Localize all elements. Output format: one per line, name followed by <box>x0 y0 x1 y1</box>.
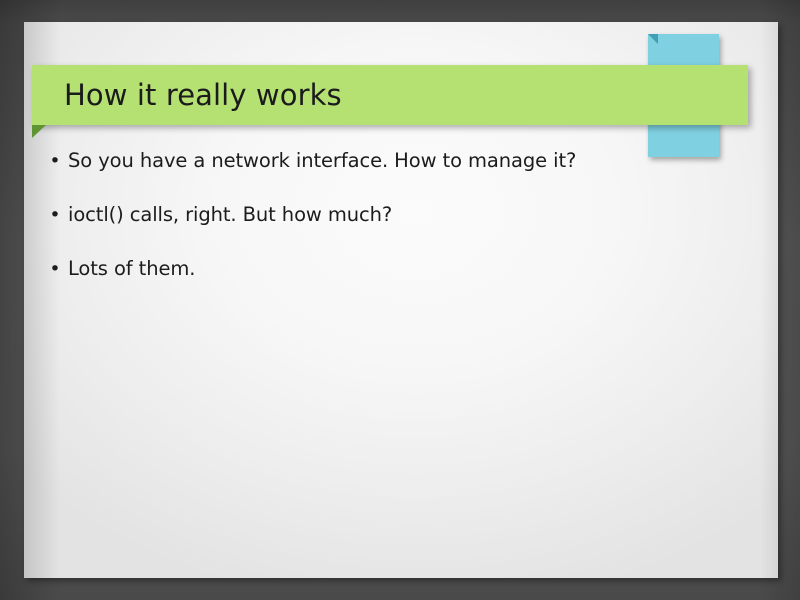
title-banner-fold-icon <box>32 125 46 138</box>
bullet-list: • So you have a network interface. How t… <box>42 147 748 309</box>
list-item-label: Lots of them. <box>68 255 748 283</box>
list-item: • ioctl() calls, right. But how much? <box>42 201 748 229</box>
list-item: • Lots of them. <box>42 255 748 283</box>
page-title: How it really works <box>32 81 342 110</box>
list-item-label: So you have a network interface. How to … <box>68 147 748 175</box>
bullet-point-icon: • <box>42 255 68 283</box>
bullet-point-icon: • <box>42 201 68 229</box>
list-item-label: ioctl() calls, right. But how much? <box>68 201 748 229</box>
presentation-frame: How it really works • So you have a netw… <box>0 0 800 600</box>
title-banner: How it really works <box>32 65 748 125</box>
list-item: • So you have a network interface. How t… <box>42 147 748 175</box>
accent-bar-fold-icon <box>648 34 658 44</box>
bullet-point-icon: • <box>42 147 68 175</box>
slide-canvas: How it really works • So you have a netw… <box>24 22 778 578</box>
